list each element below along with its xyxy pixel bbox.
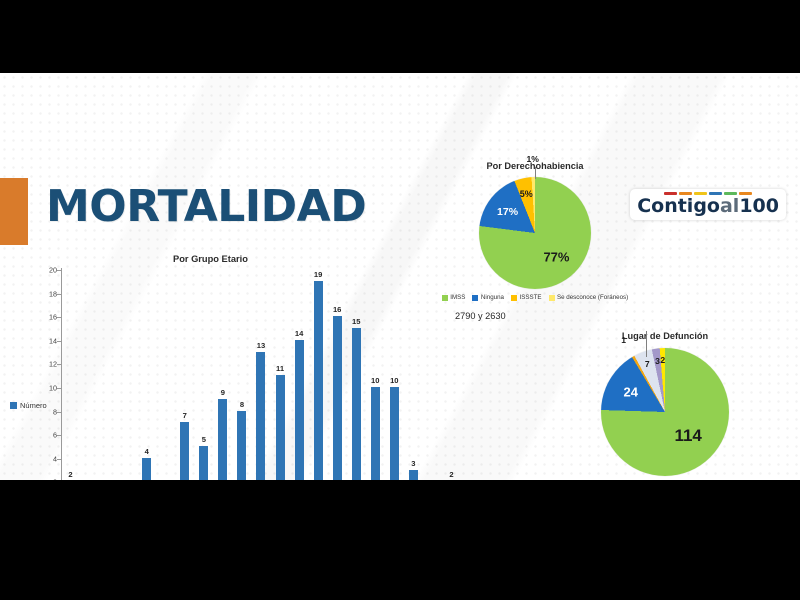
legend-label-numero: Número — [20, 401, 47, 410]
bar[interactable] — [276, 375, 285, 480]
pie-legend-swatch — [442, 295, 448, 301]
presentation-slide: MORTALIDAD Contigoal100 Por Grupo Etario… — [0, 73, 800, 480]
pie-slice-label: 5% — [520, 189, 533, 199]
bar-value-label: 19 — [314, 270, 322, 279]
bar-value-label: 3 — [411, 459, 415, 468]
pie-leader-line — [646, 331, 647, 357]
pie-slice-label: 1 — [621, 335, 626, 345]
pie1-legend: IMSSNingunaISSSTESe desconoce (Foráneos) — [400, 294, 670, 301]
pie-legend-swatch — [472, 295, 478, 301]
pie-slice-label: 2 — [660, 355, 665, 365]
bar[interactable] — [352, 328, 361, 480]
bar-slot: 15 — [347, 269, 366, 480]
bar[interactable] — [199, 446, 208, 480]
pie-legend-swatch — [511, 295, 517, 301]
bar-slot: 1 — [118, 269, 137, 480]
bar-slot: 16 — [328, 269, 347, 480]
logo-part-contigo: Contigo — [637, 195, 720, 217]
logo-wordmark: Contigoal100 — [637, 197, 779, 216]
bar[interactable] — [256, 352, 265, 480]
pie-legend-item[interactable]: Ninguna — [472, 294, 504, 301]
pie-legend-swatch — [549, 295, 555, 301]
legend-swatch-numero — [10, 402, 17, 409]
bar[interactable] — [314, 281, 323, 480]
bar[interactable] — [237, 411, 246, 480]
bar-slot: 1 — [99, 269, 118, 480]
bar-slot — [80, 269, 99, 480]
bar-slot: 9 — [213, 269, 232, 480]
bar-value-label: 15 — [352, 317, 360, 326]
bar[interactable] — [409, 470, 418, 480]
pie-slice-label: 24 — [624, 384, 638, 399]
bar[interactable] — [218, 399, 227, 480]
bar-value-label: 2 — [449, 470, 453, 479]
bar-value-label: 16 — [333, 305, 341, 314]
bar-slot: 13 — [251, 269, 270, 480]
logo-part-100: 100 — [739, 195, 779, 217]
pie-slice-label: 1% — [526, 154, 538, 164]
pie-legend-item[interactable]: Se desconoce (Foráneos) — [549, 294, 629, 301]
pie-chart-derechohabiencia: Por Derechohabiencia 77%17%5%1% IMSSNing… — [400, 161, 670, 301]
pie-leader-line — [535, 167, 536, 179]
bar-value-label: 10 — [371, 376, 379, 385]
pie-slice-label: 114 — [674, 426, 701, 446]
bar[interactable] — [390, 387, 399, 480]
bar-value-label: 14 — [295, 329, 303, 338]
pie-legend-label: IMSS — [450, 294, 465, 301]
bar-value-label: 2 — [68, 470, 72, 479]
bar-slot: 7 — [175, 269, 194, 480]
bar-value-label: 10 — [390, 376, 398, 385]
bar-slot: 5 — [194, 269, 213, 480]
y-tick-label: 2 — [53, 478, 61, 480]
contigo-al-100-logo: Contigoal100 — [630, 189, 786, 220]
logo-part-al: al — [720, 195, 739, 217]
bar[interactable] — [371, 387, 380, 480]
slide-viewer: MORTALIDAD Contigoal100 Por Grupo Etario… — [0, 0, 800, 600]
bar-slot: 10 — [366, 269, 385, 480]
bar-chart-title: Por Grupo Etario — [173, 254, 248, 264]
pie2-title: Lugar de Defunción — [530, 331, 800, 341]
bar-slot: 1 — [156, 269, 175, 480]
bar-slot: 11 — [271, 269, 290, 480]
pie-legend-label: Se desconoce (Foráneos) — [557, 294, 628, 301]
pie-legend-label: ISSSTE — [519, 294, 541, 301]
pie-slice-label: 3 — [655, 356, 660, 366]
bar[interactable] — [142, 458, 151, 480]
bar-value-label: 7 — [183, 411, 187, 420]
bar-chart-legend: Número — [10, 401, 47, 410]
pie2-graphic: 114241732 — [601, 348, 729, 476]
chart-annotation: 2790 y 2630 — [455, 311, 506, 321]
pie-legend-item[interactable]: ISSSTE — [511, 294, 542, 301]
bar-value-label: 11 — [276, 364, 284, 373]
bar-value-label: 4 — [145, 447, 149, 456]
pie-slice-label: 7 — [645, 359, 650, 369]
page-title: MORTALIDAD — [46, 181, 366, 232]
pie-legend-label: Ninguna — [481, 294, 504, 301]
bar-value-label: 13 — [257, 341, 265, 350]
bar-slot: 2 — [61, 269, 80, 480]
pie1-graphic: 77%17%5%1% — [479, 177, 591, 289]
bar-slot: 4 — [137, 269, 156, 480]
bar[interactable] — [333, 316, 342, 480]
bar[interactable] — [295, 340, 304, 480]
bar-plot-area: 02468101214161820 2114175981311141916151… — [61, 270, 461, 480]
pie-slice-label: 77% — [543, 250, 569, 265]
bar-value-label: 5 — [202, 435, 206, 444]
bar-value-label: 8 — [240, 400, 244, 409]
bar-slot: 8 — [232, 269, 251, 480]
bar-slot: 14 — [290, 269, 309, 480]
bar-slot: 19 — [309, 269, 328, 480]
bar[interactable] — [180, 422, 189, 480]
pie-slice-label: 17% — [497, 206, 518, 218]
bar-value-label: 9 — [221, 388, 225, 397]
pie-legend-item[interactable]: IMSS — [442, 294, 466, 301]
pie-chart-lugar-defuncion: Lugar de Defunción 114241732 IMSSCHMHHGT… — [530, 331, 800, 480]
title-accent-block — [0, 178, 28, 245]
